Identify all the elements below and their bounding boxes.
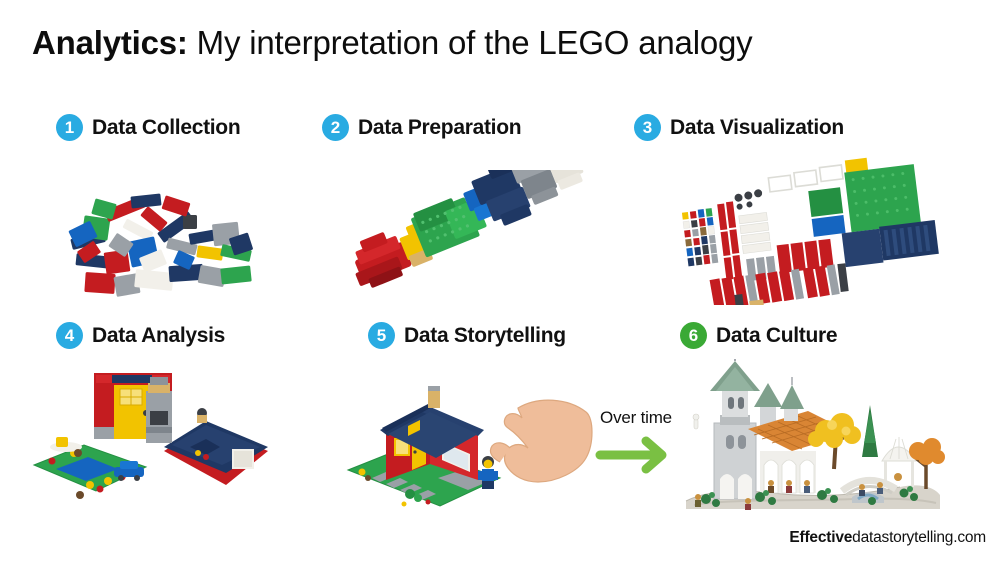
step-header: 5 Data Storytelling (368, 322, 566, 349)
lego-subassemblies-image (0, 356, 312, 524)
page-title-rest: My interpretation of the LEGO analogy (188, 24, 753, 61)
step-header: 3 Data Visualization (634, 114, 844, 141)
step-data-storytelling: 5 Data Storytelling (312, 312, 624, 524)
step-data-analysis: 4 Data Analysis (0, 312, 312, 524)
step-label-6: Data Culture (716, 324, 837, 348)
step-data-preparation: 2 Data Preparation (312, 104, 624, 312)
step-header: 6 Data Culture (680, 322, 837, 349)
lego-grid-inventory-image (624, 148, 1000, 312)
over-time-label: Over time (588, 408, 684, 428)
step-number-badge-3: 3 (634, 114, 661, 141)
lego-house-hand-image (312, 356, 624, 524)
page-title: Analytics: My interpretation of the LEGO… (32, 22, 752, 64)
brand-footer: Effectivedatastorytelling.com (789, 529, 986, 547)
step-label-3: Data Visualization (670, 116, 844, 140)
step-number-badge-5: 5 (368, 322, 395, 349)
brand-name-bold: Effective (789, 529, 852, 546)
step-number-badge-4: 4 (56, 322, 83, 349)
step-header: 2 Data Preparation (322, 114, 521, 141)
step-data-collection: 1 Data Collection (0, 104, 312, 312)
step-number-badge-1: 1 (56, 114, 83, 141)
step-label-2: Data Preparation (358, 116, 521, 140)
step-label-5: Data Storytelling (404, 324, 566, 348)
step-number-badge-6: 6 (680, 322, 707, 349)
step-header: 1 Data Collection (56, 114, 240, 141)
lego-sorted-band-image (312, 148, 624, 312)
arrow-right-icon (588, 436, 684, 479)
analogy-steps-grid: 1 Data Collection (0, 104, 1000, 524)
lego-pile-image (0, 148, 312, 312)
page-title-emphasis: Analytics: (32, 24, 188, 61)
step-number-badge-2: 2 (322, 114, 349, 141)
step-label-4: Data Analysis (92, 324, 225, 348)
brand-name-regular: datastorytelling.com (852, 529, 986, 546)
step-label-1: Data Collection (92, 116, 240, 140)
over-time-annotation: Over time (588, 408, 684, 479)
step-header: 4 Data Analysis (56, 322, 225, 349)
step-data-visualization: 3 Data Visualization (624, 104, 1000, 312)
